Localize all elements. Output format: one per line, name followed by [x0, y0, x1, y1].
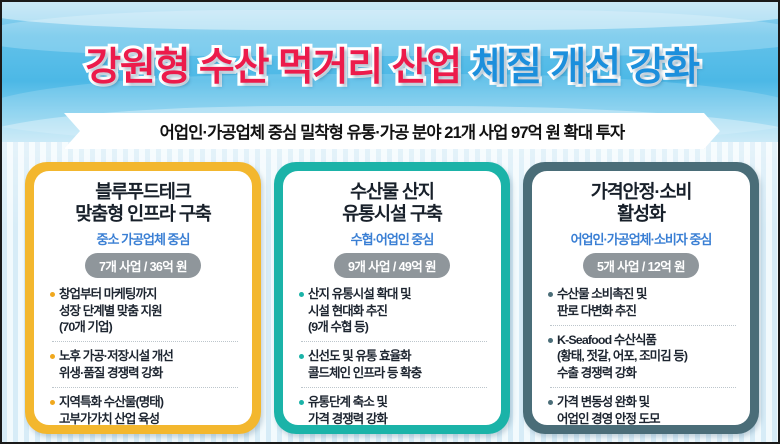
list-item-text: 가격 변동성 완화 및 어업인 경영 안정 도모 [557, 394, 660, 427]
list-item-text: 신선도 및 유통 효율화 콜드체인 인프라 등 확충 [308, 348, 421, 381]
bullet-dot-icon [548, 400, 553, 405]
list-divider [301, 387, 487, 388]
bullet-dot-icon [299, 292, 304, 297]
bullet-dot-icon [548, 292, 553, 297]
card-price-stabilization[interactable]: 가격안정·소비 활성화 어업인·가공업체·소비자 중심 5개 사업 / 12억 … [523, 162, 759, 434]
list-item: 지역특화 수산물(명태) 고부가가치 산업 육성 [46, 394, 240, 427]
list-item-text: 유통단계 축소 및 가격 경쟁력 강화 [308, 394, 387, 427]
bullet-dot-icon [299, 400, 304, 405]
list-item-text: 노후 가공·저장시설 개선 위생·품질 경쟁력 강화 [59, 348, 173, 381]
card-title-line2: 활성화 [591, 203, 692, 225]
list-item: 유통단계 축소 및 가격 경쟁력 강화 [295, 394, 489, 427]
list-item: K-Seafood 수산식품 (황태, 젓갈, 어포, 조미김 등) 수출 경쟁… [544, 332, 738, 381]
list-divider [52, 341, 238, 342]
card-badge: 7개 사업 / 36억 원 [85, 253, 201, 278]
card-subtitle: 수협·어업인 중심 [351, 229, 434, 248]
card-subtitle: 어업인·가공업체·소비자 중심 [571, 229, 712, 248]
card-title-line1: 가격안정·소비 [591, 181, 692, 203]
list-item: 수산물 소비촉진 및 판로 다변화 추진 [544, 286, 738, 319]
list-divider [550, 325, 736, 326]
card-title: 블루푸드테크 맞춤형 인프라 구축 [75, 181, 210, 224]
card-badge: 9개 사업 / 49억 원 [334, 253, 450, 278]
card-badge: 5개 사업 / 12억 원 [583, 253, 699, 278]
card-subtitle: 중소 가공업체 중심 [97, 229, 190, 248]
page-title-part1: 강원형 수산 먹거리 산업 [85, 36, 461, 92]
card-inner: 블루푸드테크 맞춤형 인프라 구축 중소 가공업체 중심 7개 사업 / 36억… [34, 171, 252, 425]
card-blue-food-tech[interactable]: 블루푸드테크 맞춤형 인프라 구축 중소 가공업체 중심 7개 사업 / 36억… [25, 162, 261, 434]
bullet-dot-icon [50, 400, 55, 405]
card-title-line2: 유통시설 구축 [342, 203, 442, 225]
card-title: 가격안정·소비 활성화 [591, 181, 692, 224]
card-title-line2: 맞춤형 인프라 구축 [75, 203, 210, 225]
list-divider [301, 341, 487, 342]
page-title: 강원형 수산 먹거리 산업 체질 개선 강화 [2, 36, 780, 92]
page-title-part2: 체질 개선 강화 [471, 36, 698, 92]
subtitle-text: 어업인·가공업체 중심 밀착형 유통·가공 분야 21개 사업 97억 원 확대… [160, 119, 625, 143]
card-inner: 수산물 산지 유통시설 구축 수협·어업인 중심 9개 사업 / 49억 원 산… [283, 171, 501, 425]
list-item: 노후 가공·저장시설 개선 위생·품질 경쟁력 강화 [46, 348, 240, 381]
card-distribution-facility[interactable]: 수산물 산지 유통시설 구축 수협·어업인 중심 9개 사업 / 49억 원 산… [274, 162, 510, 434]
list-divider [52, 387, 238, 388]
card-title-line1: 블루푸드테크 [75, 181, 210, 203]
card-bullet-list: 창업부터 마케팅까지 성장 단계별 맞춤 지원 (70개 기업) 노후 가공·저… [46, 286, 240, 427]
list-item: 창업부터 마케팅까지 성장 단계별 맞춤 지원 (70개 기업) [46, 286, 240, 335]
card-title: 수산물 산지 유통시설 구축 [342, 181, 442, 224]
list-item: 산지 유통시설 확대 및 시설 현대화 추진 (9개 수협 등) [295, 286, 489, 335]
card-container: 블루푸드테크 맞춤형 인프라 구축 중소 가공업체 중심 7개 사업 / 36억… [2, 162, 780, 434]
infographic-poster: 강원형 수산 먹거리 산업 체질 개선 강화 어업인·가공업체 중심 밀착형 유… [0, 0, 780, 444]
list-item-text: 지역특화 수산물(명태) 고부가가치 산업 육성 [59, 394, 163, 427]
list-divider [550, 387, 736, 388]
list-item-text: K-Seafood 수산식품 (황태, 젓갈, 어포, 조미김 등) 수출 경쟁… [557, 332, 687, 381]
bullet-dot-icon [50, 292, 55, 297]
bullet-dot-icon [299, 354, 304, 359]
card-bullet-list: 수산물 소비촉진 및 판로 다변화 추진 K-Seafood 수산식품 (황태,… [544, 286, 738, 427]
bullet-dot-icon [548, 338, 553, 343]
list-item-text: 수산물 소비촉진 및 판로 다변화 추진 [557, 286, 647, 319]
list-item-text: 창업부터 마케팅까지 성장 단계별 맞춤 지원 (70개 기업) [59, 286, 162, 335]
card-title-line1: 수산물 산지 [342, 181, 442, 203]
card-bullet-list: 산지 유통시설 확대 및 시설 현대화 추진 (9개 수협 등) 신선도 및 유… [295, 286, 489, 427]
card-inner: 가격안정·소비 활성화 어업인·가공업체·소비자 중심 5개 사업 / 12억 … [532, 171, 750, 425]
list-item: 가격 변동성 완화 및 어업인 경영 안정 도모 [544, 394, 738, 427]
subtitle-ribbon: 어업인·가공업체 중심 밀착형 유통·가공 분야 21개 사업 97억 원 확대… [64, 113, 720, 149]
bullet-dot-icon [50, 354, 55, 359]
list-item-text: 산지 유통시설 확대 및 시설 현대화 추진 (9개 수협 등) [308, 286, 411, 335]
list-item: 신선도 및 유통 효율화 콜드체인 인프라 등 확충 [295, 348, 489, 381]
